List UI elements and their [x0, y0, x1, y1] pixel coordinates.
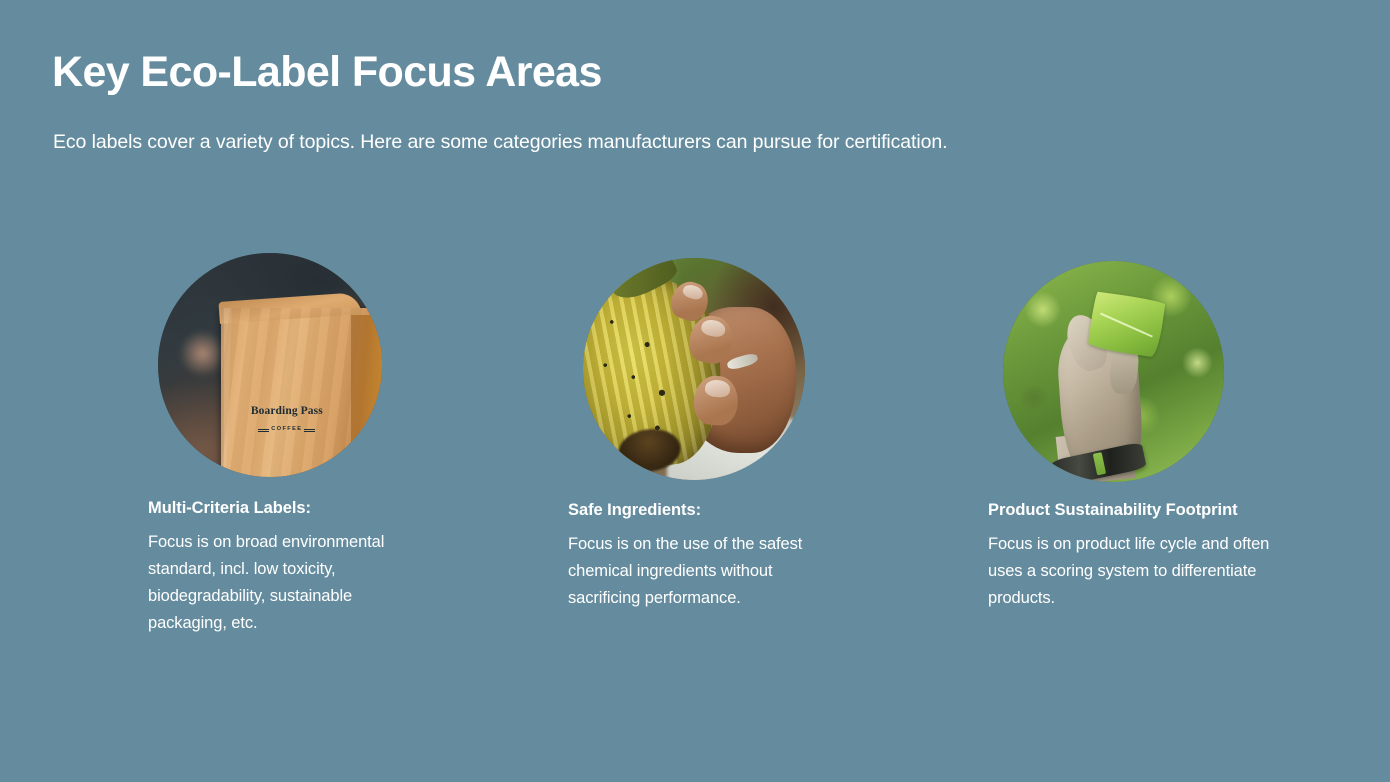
- leaf-in-hand-photo: [1003, 261, 1224, 482]
- bag-creases: [221, 308, 382, 477]
- page-title: Key Eco-Label Focus Areas: [52, 48, 602, 96]
- slide: Key Eco-Label Focus Areas Eco labels cov…: [0, 0, 1390, 782]
- coffee-bag-photo: Boarding Pass COFFEE: [158, 253, 382, 477]
- coffee-brand-sublabel: COFFEE: [258, 427, 315, 433]
- focus-area-body-3: Focus is on product life cycle and often…: [988, 531, 1318, 612]
- coffee-bag-photo-background: Boarding Pass COFFEE: [158, 253, 382, 477]
- cacao-pod-photo: [583, 258, 805, 480]
- blurred-hand-shape: [180, 329, 225, 378]
- coffee-bag-shape: Boarding Pass COFFEE: [221, 308, 382, 477]
- focus-area-heading-2: Safe Ingredients:: [568, 501, 898, 520]
- focus-area-column-2: Safe Ingredients: Focus is on the use of…: [568, 258, 898, 612]
- focus-area-heading-3: Product Sustainability Footprint: [988, 501, 1318, 520]
- coffee-bag-label: Boarding Pass COFFEE: [235, 406, 338, 434]
- focus-area-column-1: Boarding Pass COFFEE Multi-Criteria Labe…: [148, 253, 478, 637]
- cacao-pod-photo-background: [583, 258, 805, 480]
- focus-area-body-2: Focus is on the use of the safest chemic…: [568, 531, 898, 612]
- focus-area-column-3: Product Sustainability Footprint Focus i…: [988, 261, 1318, 612]
- leaf-photo-background: [1003, 261, 1224, 482]
- focus-area-heading-1: Multi-Criteria Labels:: [148, 499, 478, 518]
- page-subtitle: Eco labels cover a variety of topics. He…: [53, 131, 947, 154]
- coffee-brand-name: Boarding Pass: [235, 406, 338, 418]
- focus-area-body-1: Focus is on broad environmental standard…: [148, 529, 478, 637]
